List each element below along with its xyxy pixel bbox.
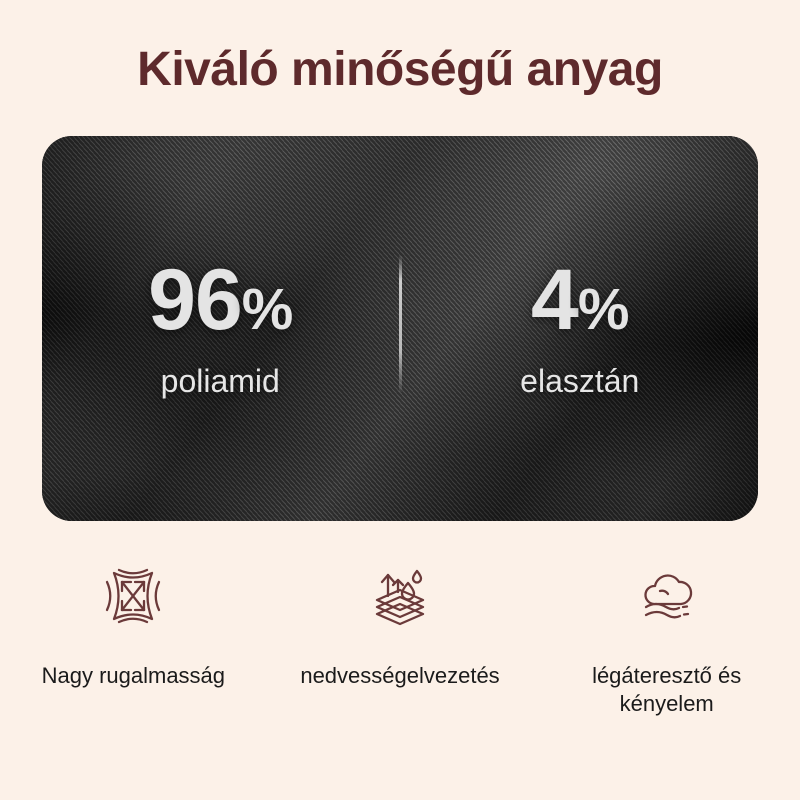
stat-elasztan: 4% elasztán bbox=[402, 257, 759, 401]
stat-poliamid: 96% poliamid bbox=[42, 257, 399, 401]
feature-row: Nagy rugalmasság nedvességelvezetés bbox=[0, 560, 800, 718]
stretch-arrows-icon bbox=[97, 560, 169, 632]
composition-stats: 96% poliamid 4% elasztán bbox=[42, 136, 758, 521]
feature-label-high-elasticity: Nagy rugalmasság bbox=[42, 662, 225, 690]
feature-breathable-comfort: légáteresztő és kényelem bbox=[533, 560, 800, 718]
feature-high-elasticity: Nagy rugalmasság bbox=[0, 560, 267, 718]
moisture-wicking-layers-icon bbox=[364, 560, 436, 632]
stat-label-elasztan: elasztán bbox=[402, 365, 759, 397]
stat-number-poliamid: 96 bbox=[148, 252, 242, 348]
feature-label-breathable-comfort: légáteresztő és kényelem bbox=[552, 662, 782, 718]
feature-label-moisture-wicking: nedvességelvezetés bbox=[300, 662, 499, 690]
percent-symbol-elasztan: % bbox=[578, 277, 629, 342]
material-info-page: Kiváló minőségű anyag 96% poliamid 4% el… bbox=[0, 0, 800, 800]
stat-value-poliamid: 96% bbox=[42, 257, 399, 343]
page-title: Kiváló minőségű anyag bbox=[0, 42, 800, 97]
percent-symbol-poliamid: % bbox=[242, 277, 293, 342]
stat-value-elasztan: 4% bbox=[402, 257, 759, 343]
fabric-composition-card: 96% poliamid 4% elasztán bbox=[42, 136, 758, 521]
stat-number-elasztan: 4 bbox=[531, 252, 578, 348]
breathable-cloud-icon bbox=[631, 560, 703, 632]
stat-label-poliamid: poliamid bbox=[42, 365, 399, 397]
feature-moisture-wicking: nedvességelvezetés bbox=[267, 560, 534, 718]
